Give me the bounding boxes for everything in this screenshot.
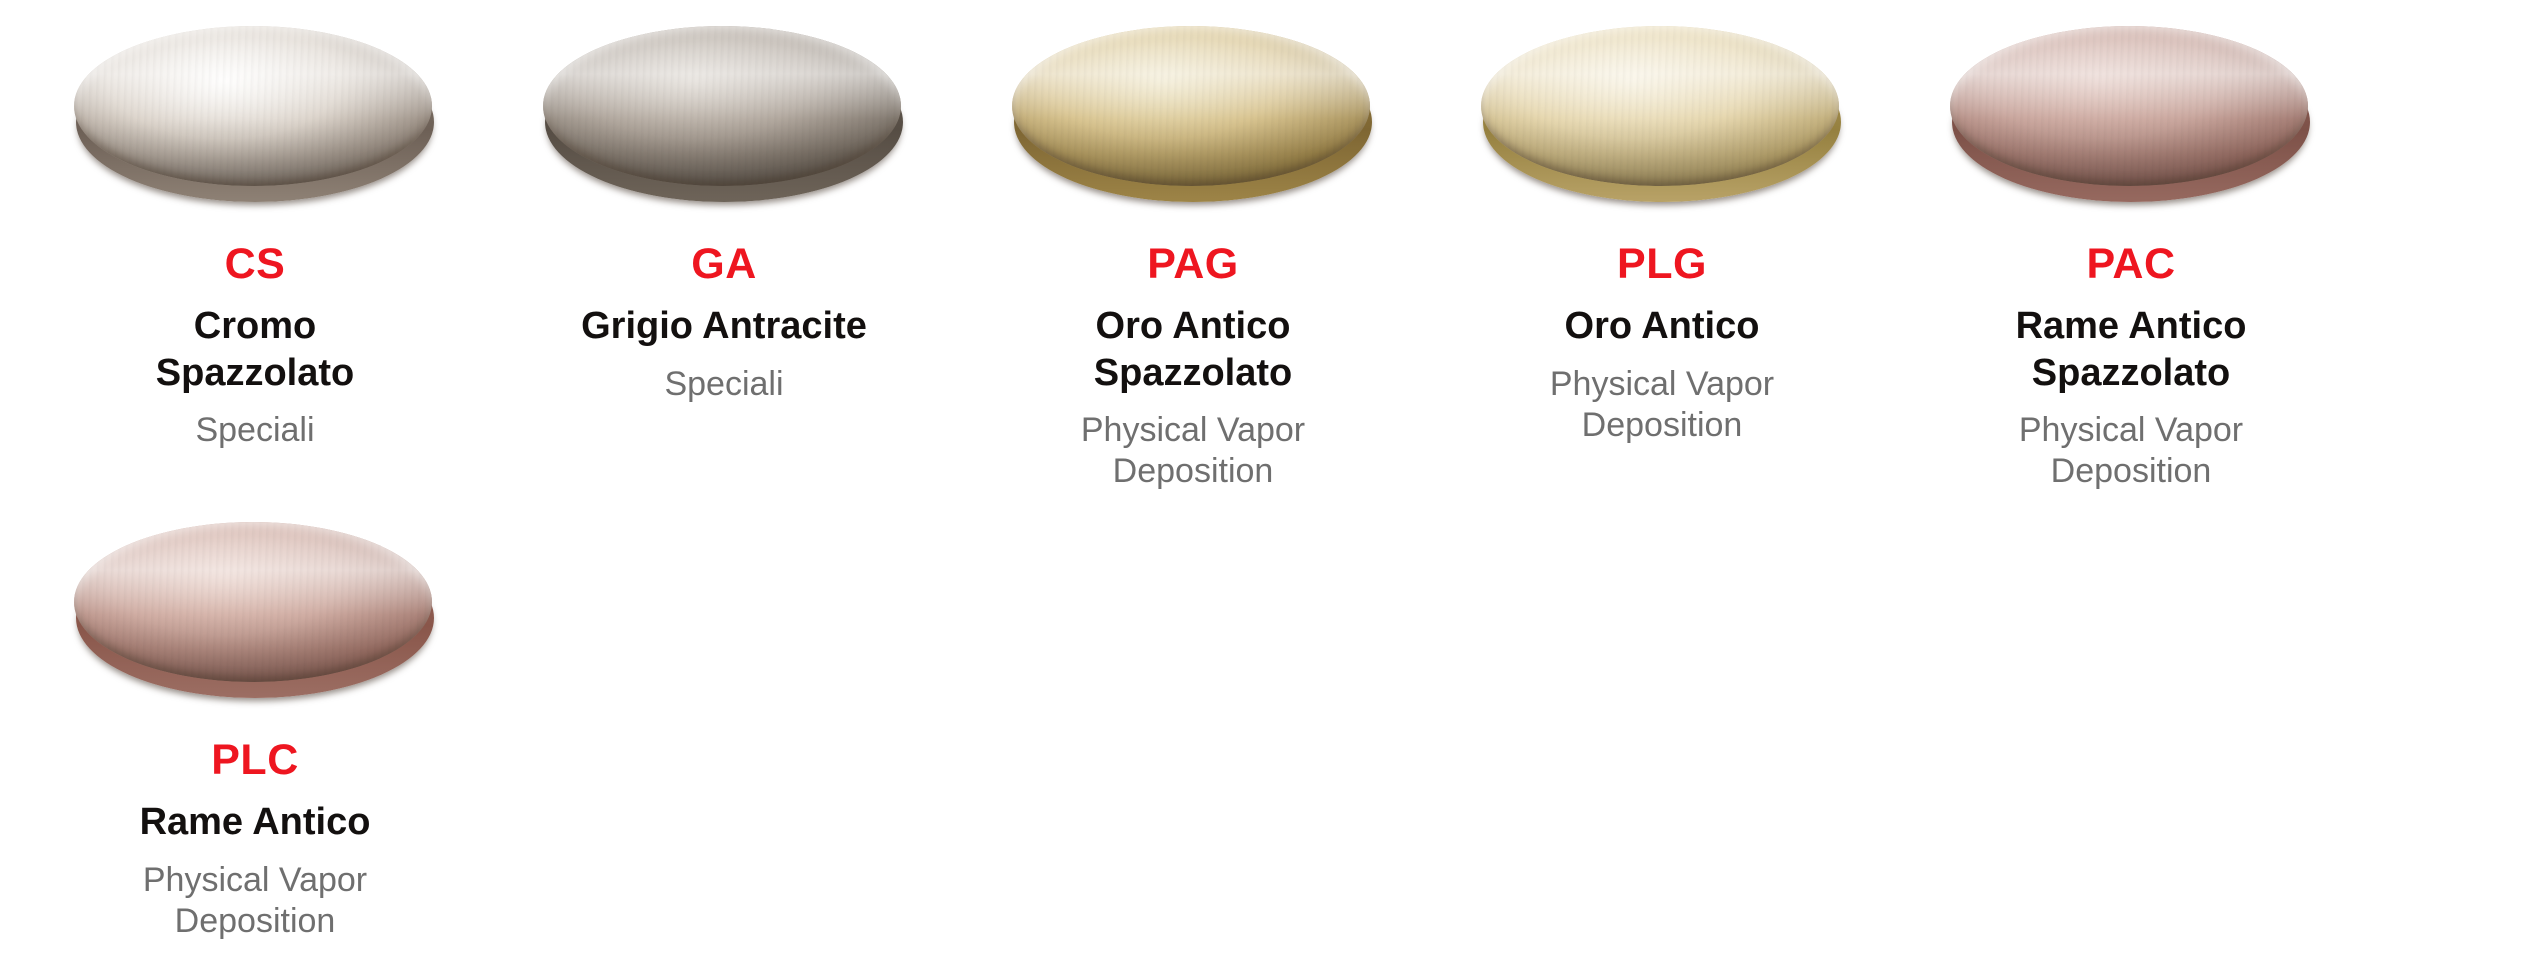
swatch-edge-highlight	[1950, 26, 2308, 186]
finish-process: Physical Vapor Deposition	[1043, 410, 1343, 493]
finish-item-pag[interactable]: PAGOro Antico SpazzolatoPhysical Vapor D…	[958, 26, 1428, 493]
finish-name: Cromo Spazzolato	[90, 303, 420, 396]
swatch-edge-highlight	[1012, 26, 1370, 186]
finish-code: PLG	[1617, 242, 1707, 287]
finish-code: CS	[225, 242, 286, 287]
swatch-antique-copper-brushed[interactable]	[1950, 26, 2312, 204]
finish-item-pac[interactable]: PACRame Antico SpazzolatoPhysical Vapor …	[1896, 26, 2366, 493]
finish-code: PAG	[1147, 242, 1239, 287]
swatch-anthracite-grey[interactable]	[543, 26, 905, 204]
finish-name: Oro Antico Spazzolato	[1028, 303, 1358, 396]
finish-item-cs[interactable]: CSCromo SpazzolatoSpeciali	[20, 26, 490, 451]
finish-code: GA	[691, 242, 757, 287]
finish-code: PAC	[2086, 242, 2175, 287]
finish-process: Speciali	[664, 364, 783, 405]
finish-swatch-grid: CSCromo SpazzolatoSpecialiGAGrigio Antra…	[0, 0, 2528, 960]
finish-process: Physical Vapor Deposition	[1512, 364, 1812, 447]
finish-name: Rame Antico	[140, 799, 371, 845]
swatch-face	[1481, 26, 1839, 186]
swatch-face	[543, 26, 901, 186]
swatch-face	[1012, 26, 1370, 186]
swatch-face	[74, 26, 432, 186]
swatch-face	[74, 522, 432, 682]
finish-code: PLC	[211, 738, 299, 783]
finish-name: Grigio Antracite	[581, 303, 867, 349]
swatch-antique-copper-polished[interactable]	[74, 522, 436, 700]
finish-process: Physical Vapor Deposition	[105, 860, 405, 943]
finish-name: Rame Antico Spazzolato	[1966, 303, 2296, 396]
finish-item-plc[interactable]: PLCRame AnticoPhysical Vapor Deposition	[20, 522, 490, 942]
swatch-edge-highlight	[1481, 26, 1839, 186]
swatch-edge-highlight	[543, 26, 901, 186]
finish-item-plg[interactable]: PLGOro AnticoPhysical Vapor Deposition	[1427, 26, 1897, 446]
finish-item-ga[interactable]: GAGrigio AntraciteSpeciali	[489, 26, 959, 405]
swatch-face	[1950, 26, 2308, 186]
swatch-chrome-brushed[interactable]	[74, 26, 436, 204]
finish-process: Physical Vapor Deposition	[1981, 410, 2281, 493]
swatch-antique-gold-polished[interactable]	[1481, 26, 1843, 204]
swatch-edge-highlight	[74, 26, 432, 186]
finish-process: Speciali	[195, 410, 314, 451]
swatch-antique-gold-brushed[interactable]	[1012, 26, 1374, 204]
finish-name: Oro Antico	[1565, 303, 1760, 349]
swatch-edge-highlight	[74, 522, 432, 682]
